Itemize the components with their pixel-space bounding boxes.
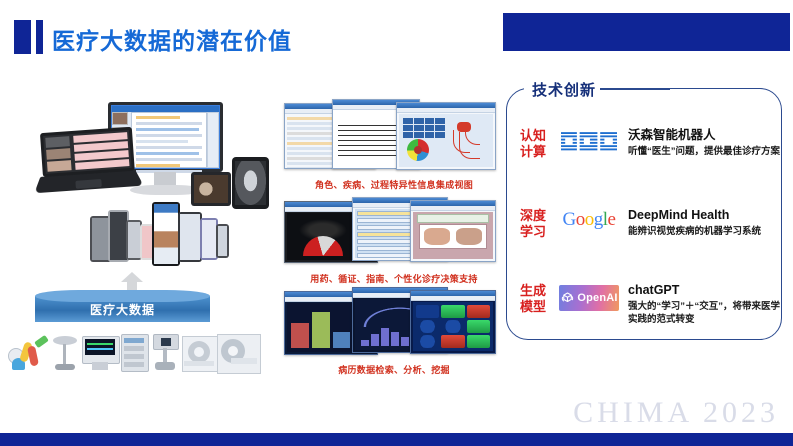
tablet-landscape-icon xyxy=(191,172,231,206)
tech-desc-watson: 听懂“医生”问题，提供最佳诊疗方案 xyxy=(628,146,780,159)
medical-cart-icon xyxy=(151,334,178,372)
caption-group-2: 用药、循证、指南、个性化诊疗决策支持 xyxy=(284,272,504,285)
title-accent-bar-thin xyxy=(36,20,43,54)
openai-logo: OpenAI xyxy=(556,283,622,311)
ventilator-icon xyxy=(119,334,148,372)
tech-title-watson: 沃森智能机器人 xyxy=(628,128,780,143)
tech-desc-deepmind: 能辨识视觉疾病的机器学习系统 xyxy=(628,226,780,239)
mri-scanner-icon xyxy=(217,334,258,372)
tablet-portrait-icon xyxy=(232,157,269,209)
screenshot-group-3 xyxy=(284,285,496,357)
tech-row-generative: 生成 模型 OpenAI chatGPT 强大的“学习”＋“交互”，将带来医学实… xyxy=(520,283,780,327)
phone-icon xyxy=(216,224,229,258)
footer-bar xyxy=(0,433,793,446)
tech-row-deep-learning: 深度 学习 Google DeepMind Health 能辨识视觉疾病的机器学… xyxy=(520,208,780,241)
tech-row-cognitive: 认知 计算 xyxy=(520,128,780,161)
watermark: CHIMA 2023 xyxy=(573,396,779,430)
caption-group-3: 病历数据检索、分析、挖掘 xyxy=(284,363,504,376)
screenshot-group-1 xyxy=(284,95,496,173)
anatomy-window xyxy=(410,200,496,262)
dashboard-window xyxy=(410,290,496,354)
phone-icon xyxy=(178,212,202,262)
google-logo: Google xyxy=(556,208,622,229)
tech-title-deepmind: DeepMind Health xyxy=(628,208,780,223)
cardiac-imaging-window xyxy=(396,102,496,170)
monitor-stand xyxy=(154,172,176,186)
pills-syringe-icon xyxy=(8,334,47,372)
big-data-cylinder: 医疗大数据 xyxy=(35,290,210,324)
cylinder-label: 医疗大数据 xyxy=(35,301,210,318)
title-accent-bar-wide xyxy=(14,20,31,54)
slide-root: 医疗大数据的潜在价值 xyxy=(0,0,793,446)
ct-scanner-icon xyxy=(182,334,215,372)
tech-category-deep-learning: 深度 学习 xyxy=(520,208,556,241)
smartphone-group xyxy=(90,202,230,272)
bullseye-chart xyxy=(407,139,429,161)
laptop-icon xyxy=(34,127,140,196)
phone-icon xyxy=(152,202,180,266)
openai-wordmark: OpenAI xyxy=(577,293,617,304)
tech-desc-chatgpt: 强大的“学习”＋“交互”，将带来医学实践的范式转变 xyxy=(628,301,780,327)
surgical-lamp-icon xyxy=(50,334,79,372)
panel-heading-rule xyxy=(600,88,670,90)
patient-monitor-icon xyxy=(82,334,117,372)
panel-heading: 技术创新 xyxy=(524,79,604,100)
tech-title-chatgpt: chatGPT xyxy=(628,283,780,298)
tech-category-generative: 生成 模型 xyxy=(520,283,556,316)
medical-equipment-row xyxy=(8,330,258,372)
heart-vessel-diagram xyxy=(447,122,487,162)
ibm-logo xyxy=(556,128,622,152)
tech-category-cognitive: 认知 计算 xyxy=(520,128,556,161)
header-blue-block xyxy=(503,13,790,51)
caption-group-1: 角色、疾病、过程特异性信息集成视图 xyxy=(284,178,504,191)
screenshot-group-2 xyxy=(284,195,496,265)
device-cluster-image xyxy=(8,82,278,297)
page-title: 医疗大数据的潜在价值 xyxy=(52,22,292,56)
